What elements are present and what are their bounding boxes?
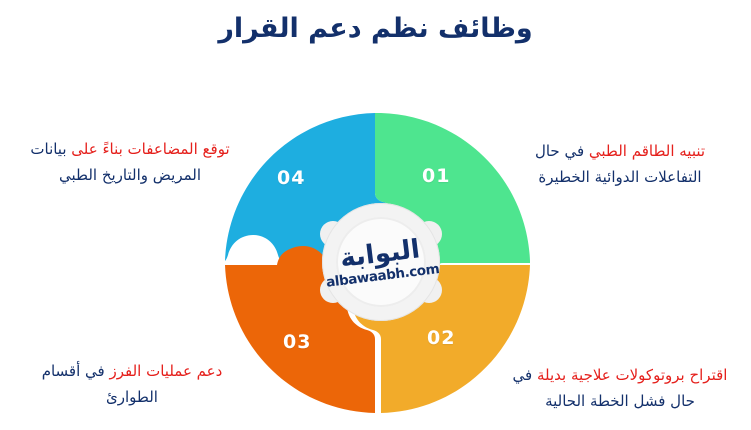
segment-number-03: 03 <box>283 331 311 353</box>
callout-02-highlight: اقتراح بروتوكولات علاجية بديلة <box>537 366 727 384</box>
callout-03-highlight: دعم عمليات الفرز <box>109 362 222 380</box>
callout-01-line2: التفاعلات الدوائية الخطيرة <box>538 168 701 186</box>
callout-03-rest: في أقسام <box>42 362 110 380</box>
segment-number-04: 04 <box>277 167 305 189</box>
callout-label-01: تنبيه الطاقم الطبي في حال التفاعلات الدو… <box>500 138 740 191</box>
callout-04-line2: المريض والتاريخ الطبي <box>59 166 201 184</box>
callout-04-rest: بيانات <box>30 140 71 158</box>
infographic-page: وظائف نظم دعم القرار <box>0 0 751 430</box>
callout-label-03: دعم عمليات الفرز في أقسام الطوارئ <box>12 358 252 411</box>
callout-02-line2: حال فشل الخطة الحالية <box>545 392 695 410</box>
segment-number-02: 02 <box>427 327 455 349</box>
callout-04-highlight: توقع المضاعفات بناءً على <box>71 140 229 158</box>
page-title: وظائف نظم دعم القرار <box>0 12 751 46</box>
callout-02-rest: في <box>513 366 537 384</box>
callout-01-rest: في حال <box>535 142 589 160</box>
callout-01-highlight: تنبيه الطاقم الطبي <box>589 142 705 160</box>
callout-label-02: اقتراح بروتوكولات علاجية بديلة في حال فش… <box>500 362 740 415</box>
segment-number-01: 01 <box>422 165 450 187</box>
callout-03-line2: الطوارئ <box>106 388 158 406</box>
callout-label-04: توقع المضاعفات بناءً على بيانات المريض و… <box>10 136 250 189</box>
puzzle-wheel-diagram: 01 02 03 04 البوابة albawaabh.com <box>225 105 530 420</box>
